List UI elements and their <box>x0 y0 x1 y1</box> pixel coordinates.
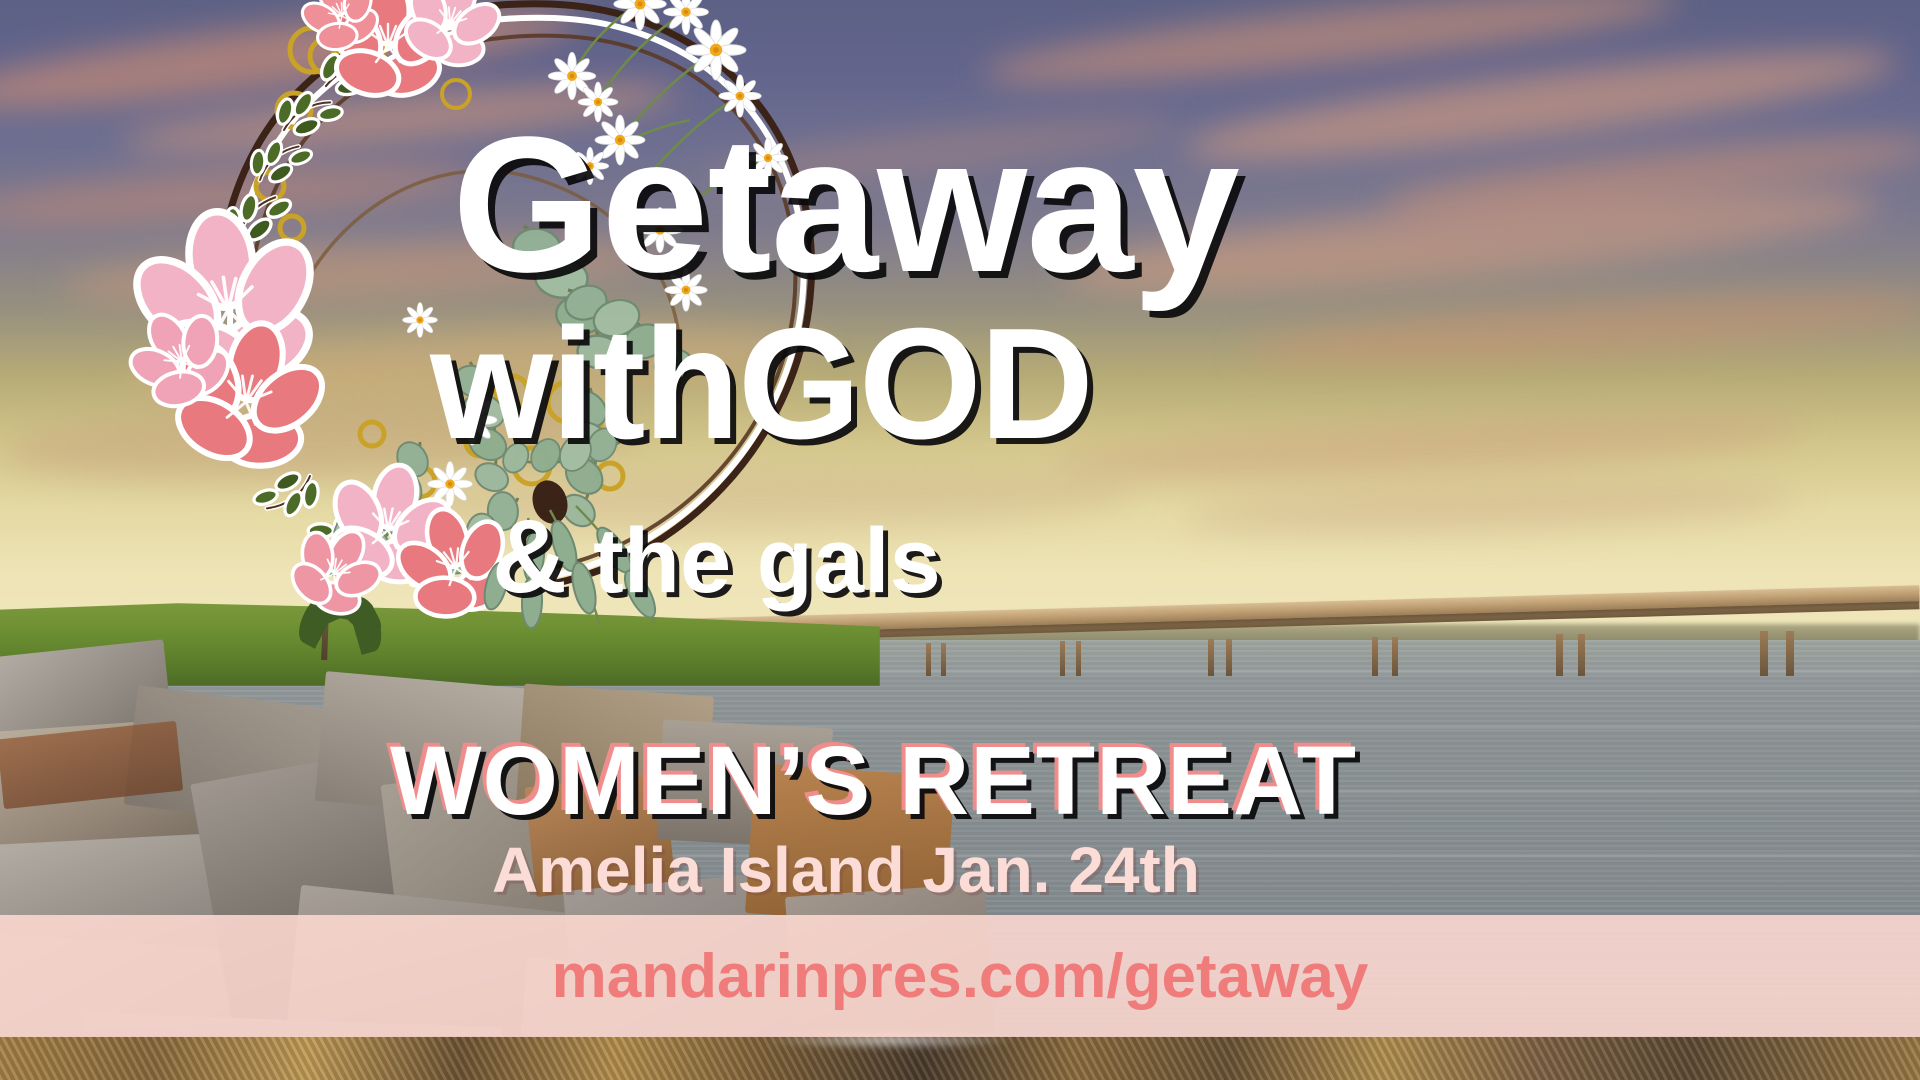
event-location-date: Amelia Island Jan. 24th <box>492 838 1200 902</box>
poster-canvas: Getaway withGOD &the gals WOMEN’S RETREA… <box>0 0 1920 1080</box>
headline-line-3: &the gals <box>492 505 941 609</box>
url-banner[interactable]: mandarinpres.com/getaway <box>0 915 1920 1037</box>
headline-line-2: withGOD <box>430 305 1092 463</box>
website-url[interactable]: mandarinpres.com/getaway <box>552 941 1369 1012</box>
event-type-label: WOMEN’S RETREAT <box>390 732 1357 829</box>
headline-line-3-text: the gals <box>593 510 941 612</box>
ampersand-glyph: & <box>492 499 567 615</box>
headline-line-1: Getaway <box>452 108 1239 301</box>
